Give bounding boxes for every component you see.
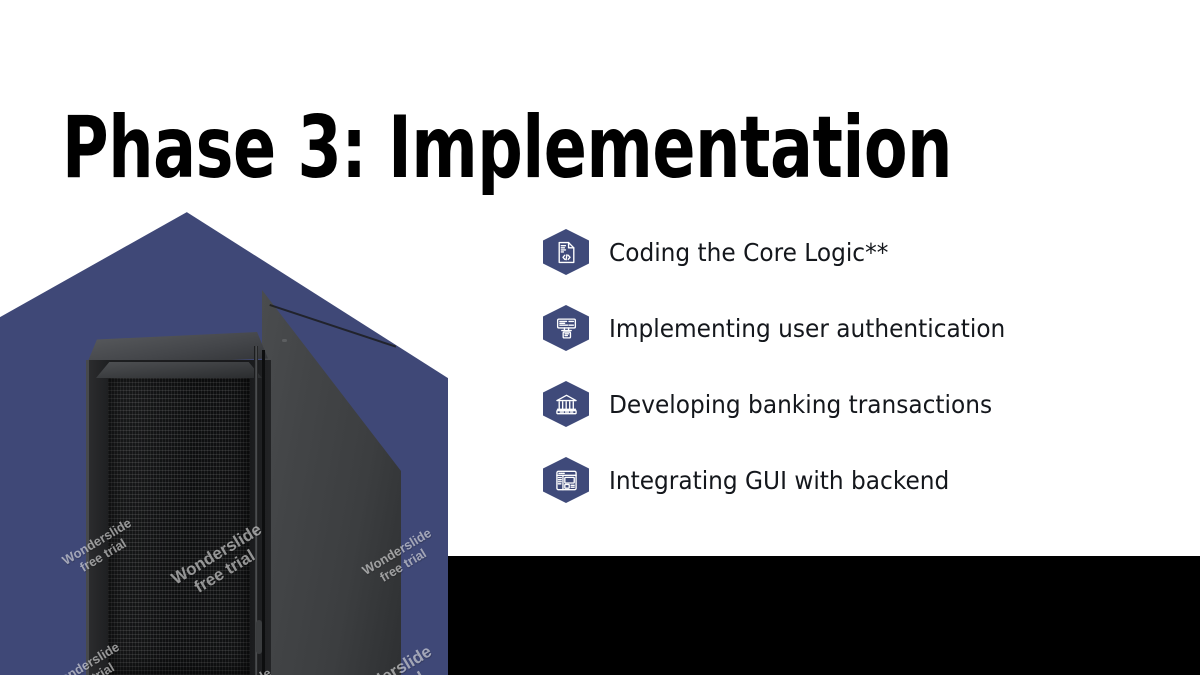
rack-door-bevel [96, 362, 262, 378]
bullet-item-3[interactable]: Developing banking transactions [543, 366, 1143, 442]
rack-door-handle [256, 620, 262, 654]
code-file-glyph [554, 240, 579, 265]
dashboard-layout-glyph [554, 468, 579, 493]
rack-mesh-door [108, 372, 250, 675]
bottom-black-band [448, 556, 1200, 675]
server-rack-image: Wonderslidefree trialWonderslidefree tri… [0, 206, 448, 675]
bullet-item-label: Integrating GUI with backend [609, 466, 949, 495]
bullet-item-label: Developing banking transactions [609, 390, 992, 419]
dashboard-layout-icon [543, 457, 589, 503]
page-title: Phase 3: Implementation [62, 104, 974, 194]
bullet-list: Coding the Core Logic** Implementing use… [543, 214, 1143, 518]
rack-door-seam-inner [262, 350, 265, 675]
auth-terminal-icon [543, 305, 589, 351]
server-rack-body [86, 290, 401, 675]
auth-terminal-glyph [554, 316, 579, 341]
slide-canvas: Phase 3: Implementation Wonderslidefree … [0, 0, 1200, 675]
code-file-icon [543, 229, 589, 275]
bank-building-glyph [554, 392, 579, 417]
rack-side-screw [282, 339, 287, 342]
bullet-item-4[interactable]: Integrating GUI with backend [543, 442, 1143, 518]
bullet-item-2[interactable]: Implementing user authentication [543, 290, 1143, 366]
bank-building-icon [543, 381, 589, 427]
bullet-item-label: Implementing user authentication [609, 314, 1005, 343]
bullet-item-1[interactable]: Coding the Core Logic** [543, 214, 1143, 290]
bullet-item-label: Coding the Core Logic** [609, 238, 888, 267]
